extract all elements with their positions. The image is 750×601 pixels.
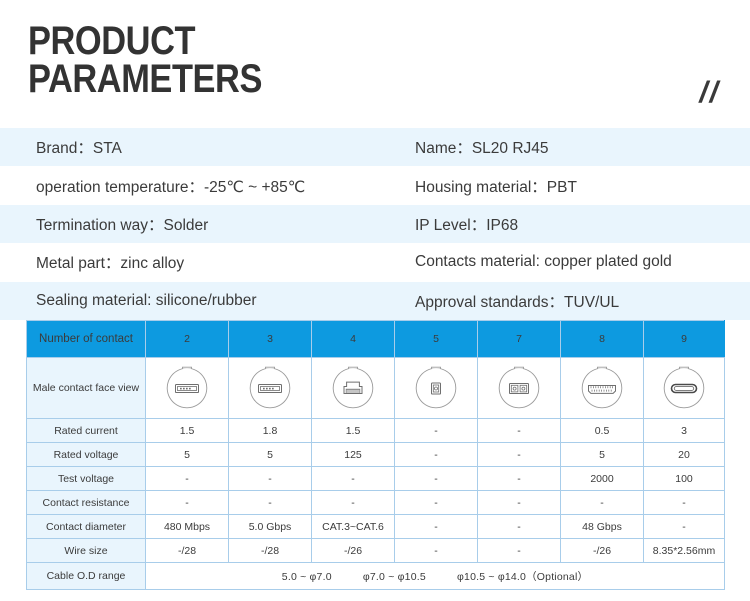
row-label-contact-resistance: Contact resistance bbox=[27, 491, 146, 515]
row-label-rated-current: Rated current bbox=[27, 419, 146, 443]
spec-row: Brand：STA Name：SL20 RJ45 bbox=[0, 128, 750, 166]
spec-housing-material: Housing material：PBT bbox=[415, 175, 750, 197]
cell-value: - bbox=[395, 419, 478, 443]
page-title: PRODUCT PARAMETERS bbox=[28, 22, 300, 98]
cell-face-view-5 bbox=[395, 358, 478, 419]
cell-value: - bbox=[561, 491, 644, 515]
parameters-table-wrapper: Number of contact 2 3 4 5 7 8 9 Male con… bbox=[26, 320, 724, 590]
row-label-test-voltage: Test voltage bbox=[27, 467, 146, 491]
row-label-cable-od-range: Cable O.D range bbox=[27, 563, 146, 590]
cell-value: 48 Gbps bbox=[561, 515, 644, 539]
cell-value: -/28 bbox=[146, 539, 229, 563]
cell-value: - bbox=[478, 491, 561, 515]
header-col-2: 2 bbox=[146, 321, 229, 358]
spec-row: Metal part：zinc alloy Contacts material:… bbox=[0, 243, 750, 281]
cell-value: - bbox=[478, 419, 561, 443]
od-value-2: φ7.0 ~ φ10.5 bbox=[363, 571, 426, 583]
spec-metal-part: Metal part：zinc alloy bbox=[0, 251, 415, 273]
cell-value: 480 Mbps bbox=[146, 515, 229, 539]
cell-value: - bbox=[644, 515, 725, 539]
cell-value: - bbox=[478, 539, 561, 563]
spec-row: Sealing material: silicone/rubber Approv… bbox=[0, 282, 750, 320]
header-number-of-contact: Number of contact bbox=[27, 321, 146, 358]
cell-value: - bbox=[395, 491, 478, 515]
cell-value: - bbox=[395, 467, 478, 491]
table-row: Contact diameter 480 Mbps 5.0 Gbps CAT.3… bbox=[27, 515, 725, 539]
header-col-3: 3 bbox=[229, 321, 312, 358]
table-header-row: Number of contact 2 3 4 5 7 8 9 bbox=[27, 321, 725, 358]
cell-face-view-4 bbox=[312, 358, 395, 419]
cable-od-range-row: Cable O.D range 5.0 ~ φ7.0 φ7.0 ~ φ10.5 … bbox=[27, 563, 725, 590]
usb-c-connector-icon bbox=[644, 358, 724, 418]
cell-value: - bbox=[644, 491, 725, 515]
cell-cable-od-values: 5.0 ~ φ7.0 φ7.0 ~ φ10.5 φ10.5 ~ φ14.0（Op… bbox=[146, 563, 725, 590]
cell-value: - bbox=[478, 443, 561, 467]
cell-value: 1.8 bbox=[229, 419, 312, 443]
header-col-5: 5 bbox=[395, 321, 478, 358]
cell-face-view-9 bbox=[644, 358, 725, 419]
cell-value: - bbox=[478, 515, 561, 539]
cell-value: - bbox=[395, 539, 478, 563]
cell-value: 5.0 Gbps bbox=[229, 515, 312, 539]
row-label-contact-diameter: Contact diameter bbox=[27, 515, 146, 539]
usb-a-connector-icon bbox=[146, 358, 228, 418]
cell-value: - bbox=[395, 443, 478, 467]
cell-value: -/28 bbox=[229, 539, 312, 563]
table-row: Rated current 1.5 1.8 1.5 - - 0.5 3 bbox=[27, 419, 725, 443]
dual-port-connector-icon bbox=[478, 358, 560, 418]
cell-value: 1.5 bbox=[146, 419, 229, 443]
spec-row: Termination way：Solder IP Level：IP68 bbox=[0, 205, 750, 243]
spec-operation-temperature: operation temperature：-25℃ ~ +85℃ bbox=[0, 175, 415, 197]
spec-brand: Brand：STA bbox=[0, 136, 415, 158]
cell-value: 0.5 bbox=[561, 419, 644, 443]
header-col-9: 9 bbox=[644, 321, 725, 358]
cell-value: 100 bbox=[644, 467, 725, 491]
header-col-4: 4 bbox=[312, 321, 395, 358]
cell-value: 2000 bbox=[561, 467, 644, 491]
cell-face-view-2 bbox=[146, 358, 229, 419]
row-label-male-contact-face-view: Male contact face view bbox=[27, 358, 146, 419]
cell-face-view-8 bbox=[561, 358, 644, 419]
cell-value: - bbox=[312, 491, 395, 515]
row-label-rated-voltage: Rated voltage bbox=[27, 443, 146, 467]
slash-accent-mark: // bbox=[699, 78, 720, 108]
single-port-connector-icon bbox=[395, 358, 477, 418]
cell-value: 125 bbox=[312, 443, 395, 467]
cell-value: -/26 bbox=[312, 539, 395, 563]
cell-value: -/26 bbox=[561, 539, 644, 563]
spec-name: Name：SL20 RJ45 bbox=[415, 136, 750, 158]
row-label-wire-size: Wire size bbox=[27, 539, 146, 563]
cell-value: - bbox=[146, 491, 229, 515]
od-value-1: 5.0 ~ φ7.0 bbox=[282, 571, 332, 583]
spec-contacts-material: Contacts material: copper plated gold bbox=[415, 253, 750, 271]
header-col-7: 7 bbox=[478, 321, 561, 358]
cell-value: 1.5 bbox=[312, 419, 395, 443]
spec-approval-standards: Approval standards：TUV/UL bbox=[415, 290, 750, 312]
cell-value: 8.35*2.56mm bbox=[644, 539, 725, 563]
od-value-3: φ10.5 ~ φ14.0（Optional） bbox=[457, 569, 588, 584]
header-col-8: 8 bbox=[561, 321, 644, 358]
cell-value: 3 bbox=[644, 419, 725, 443]
cell-value: - bbox=[229, 467, 312, 491]
usb-a-connector-icon bbox=[229, 358, 311, 418]
spec-sealing-material: Sealing material: silicone/rubber bbox=[0, 292, 415, 310]
micro-usb-connector-icon bbox=[561, 358, 643, 418]
male-contact-face-view-row: Male contact face view bbox=[27, 358, 725, 419]
cell-value: 20 bbox=[644, 443, 725, 467]
spec-termination-way: Termination way：Solder bbox=[0, 213, 415, 235]
cell-value: CAT.3~CAT.6 bbox=[312, 515, 395, 539]
cell-value: - bbox=[312, 467, 395, 491]
cell-face-view-7 bbox=[478, 358, 561, 419]
specification-band: Brand：STA Name：SL20 RJ45 operation tempe… bbox=[0, 128, 750, 320]
cell-value: - bbox=[478, 467, 561, 491]
spec-row: operation temperature：-25℃ ~ +85℃ Housin… bbox=[0, 166, 750, 204]
table-row: Contact resistance - - - - - - - bbox=[27, 491, 725, 515]
cell-face-view-3 bbox=[229, 358, 312, 419]
cell-value: 5 bbox=[229, 443, 312, 467]
cell-value: 5 bbox=[146, 443, 229, 467]
spec-ip-level: IP Level：IP68 bbox=[415, 213, 750, 235]
cell-value: 5 bbox=[561, 443, 644, 467]
title-line-2: PARAMETERS bbox=[28, 60, 262, 98]
parameters-table: Number of contact 2 3 4 5 7 8 9 Male con… bbox=[26, 320, 725, 590]
table-row: Wire size -/28 -/28 -/26 - - -/26 8.35*2… bbox=[27, 539, 725, 563]
cell-value: - bbox=[146, 467, 229, 491]
table-row: Test voltage - - - - - 2000 100 bbox=[27, 467, 725, 491]
rj45-connector-icon bbox=[312, 358, 394, 418]
title-line-1: PRODUCT bbox=[28, 22, 262, 60]
cell-value: - bbox=[229, 491, 312, 515]
product-parameters-page: PRODUCT PARAMETERS // Brand：STA Name：SL2… bbox=[0, 0, 750, 601]
cell-value: - bbox=[395, 515, 478, 539]
table-row: Rated voltage 5 5 125 - - 5 20 bbox=[27, 443, 725, 467]
